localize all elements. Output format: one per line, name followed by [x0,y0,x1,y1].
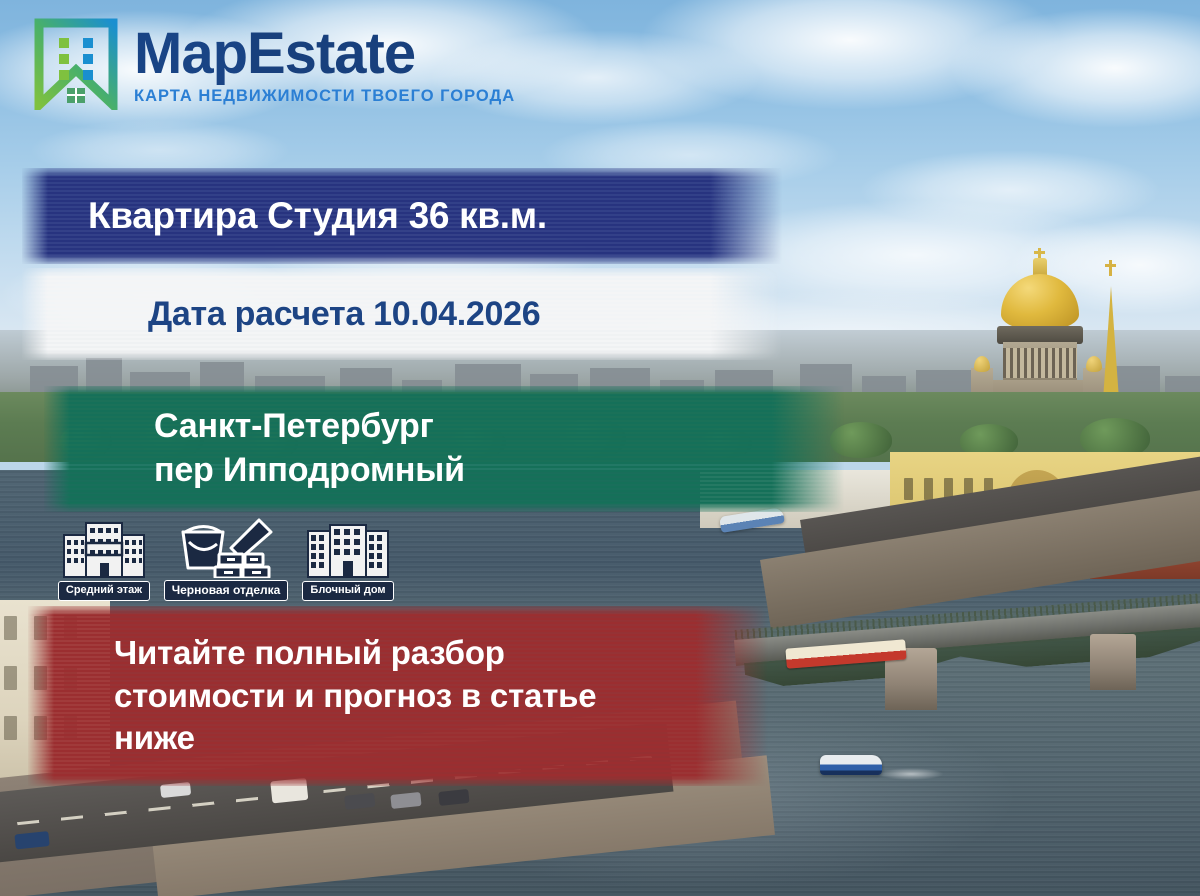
brand-logo[interactable]: MapEstate КАРТА НЕДВИЖИМОСТИ ТВОЕГО ГОРО… [34,18,515,110]
brand-tagline: КАРТА НЕДВИЖИМОСТИ ТВОЕГО ГОРОДА [134,87,515,106]
feature-floor[interactable]: Средний этаж [56,517,152,601]
bridge-pier [1090,634,1136,690]
paint-bucket-trowel-icon [175,516,277,578]
feature-badges: Средний этаж [56,516,396,601]
call-to-action-text: Читайте полный разбор стоимости и прогно… [28,632,768,761]
property-title-text: Квартира Студия 36 кв.м. [22,195,782,237]
cta-line-3: ниже [114,717,768,760]
bookmark-building-icon [34,18,118,110]
cta-line-2: стоимости и прогноз в статье [114,675,768,718]
location-street: пер Ипподромный [154,449,844,493]
brand-name-part2: Estate [247,21,415,86]
feature-finish-label: Черновая отделка [164,580,289,601]
location-city: Санкт-Петербург [154,405,844,449]
location-banner: Санкт-Петербург пер Ипподромный [44,386,844,512]
calculation-date-text: Дата расчета 10.04.2026 [22,295,782,334]
feature-house-type-label: Блочный дом [302,581,393,601]
calculation-date-banner: Дата расчета 10.04.2026 [22,268,782,360]
poster-canvas: MapEstate КАРТА НЕДВИЖИМОСТИ ТВОЕГО ГОРО… [0,0,1200,896]
call-to-action-banner: Читайте полный разбор стоимости и прогно… [28,606,768,786]
location-text: Санкт-Петербург пер Ипподромный [44,405,844,492]
cta-line-1: Читайте полный разбор [114,632,768,675]
feature-house-type[interactable]: Блочный дом [300,517,396,601]
tour-boat [820,755,882,775]
property-title-banner: Квартира Студия 36 кв.м. [22,168,782,264]
apartment-block-icon [304,517,392,579]
saint-isaacs-cathedral [975,252,1105,412]
spire-cross [1109,260,1112,276]
feature-finish[interactable]: Черновая отделка [166,516,286,601]
feature-floor-label: Средний этаж [58,581,150,601]
brand-name: MapEstate [134,26,515,81]
mid-rise-building-icon [62,517,146,579]
boat-wake [878,768,944,780]
cathedral-colonnade [1003,348,1077,378]
golden-dome [1001,274,1079,330]
brand-name-part1: Map [134,21,247,86]
